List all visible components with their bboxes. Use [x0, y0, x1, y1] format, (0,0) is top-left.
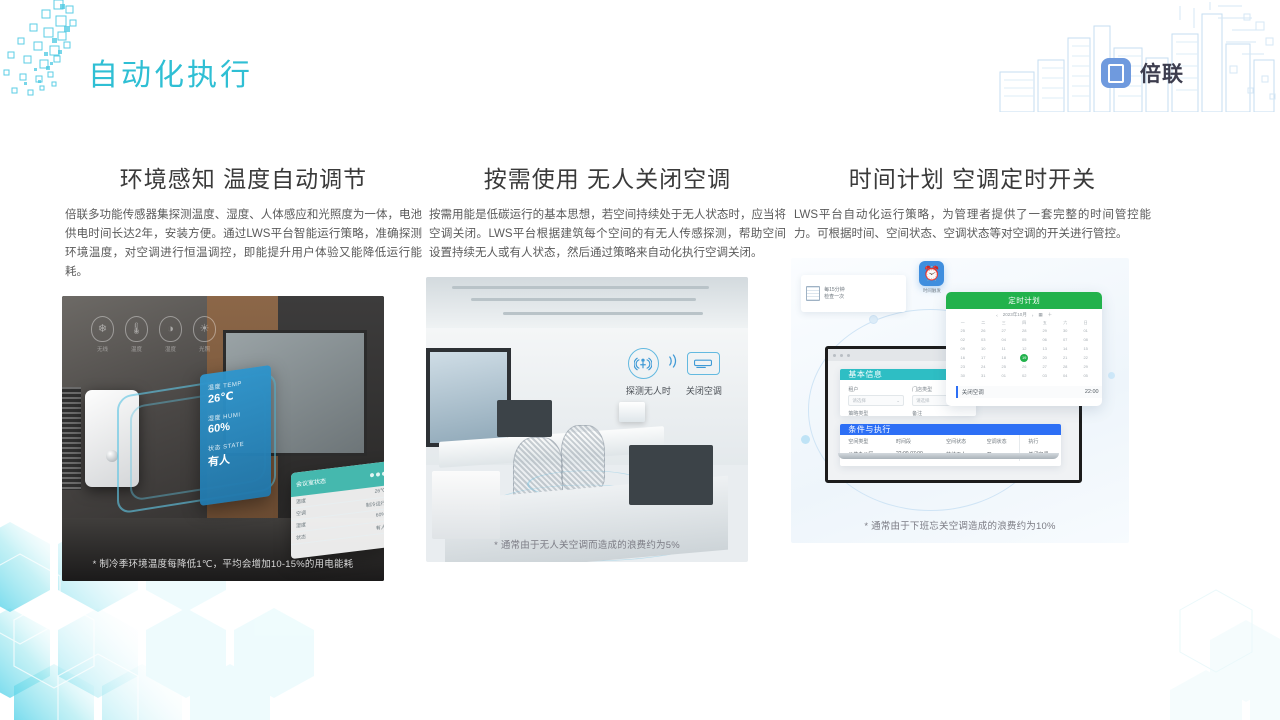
- calendar-day[interactable]: 21: [1055, 354, 1076, 362]
- calendar-day[interactable]: 14: [1055, 345, 1076, 353]
- sensor-room-image: ❄ 无线 🌡 温度 ◑ 湿度 ☀ 光照: [62, 296, 384, 581]
- hexagon-pattern-right-decoration: [1060, 570, 1280, 720]
- calendar-event-item[interactable]: 关闭空调 22:00: [956, 386, 1102, 398]
- column-2-caption: * 通常由于无人关空调而造成的浪费约为5%: [426, 537, 748, 551]
- column-3-description: LWS平台自动化运行策略，为管理者提供了一套完整的时间管控能力。可根据时间、空间…: [791, 206, 1154, 244]
- time-trigger-label: 时间触发: [919, 288, 944, 294]
- event-name: 关闭空调: [962, 388, 984, 396]
- air-conditioner-icon: [687, 352, 720, 375]
- reading-occupancy: 状态 STATE 有人: [208, 436, 263, 470]
- calendar-day[interactable]: 02: [952, 336, 972, 344]
- calendar-day[interactable]: 28: [1055, 363, 1076, 371]
- page-title: 自动化执行: [88, 50, 253, 94]
- brand-logo: 倍联: [1101, 58, 1184, 88]
- calendar-day[interactable]: 10: [973, 345, 994, 353]
- calendar-day[interactable]: 23: [952, 363, 972, 371]
- feature-column-2: 按需使用 无人关闭空调 按需用能是低碳运行的基本思想，若空间持续处于无人状态时，…: [426, 160, 789, 581]
- calendar-day[interactable]: 12: [1014, 345, 1034, 353]
- alarm-clock-icon: ⏰: [919, 261, 944, 286]
- temperature-icon: 🌡 温度: [125, 316, 148, 353]
- column-1-title: 环境感知 温度自动调节: [62, 160, 425, 194]
- calendar-day[interactable]: 27: [1034, 363, 1055, 371]
- calendar-day[interactable]: 29: [1034, 327, 1055, 335]
- app-square-icon: [1101, 58, 1131, 88]
- checklist-icon: [806, 286, 820, 301]
- chevron-down-icon: ⌄: [896, 398, 900, 404]
- calendar-day[interactable]: 28: [1014, 327, 1034, 335]
- brand-name: 倍联: [1140, 58, 1184, 88]
- calendar-weekday: 四: [1014, 319, 1034, 327]
- column-1-caption: * 制冷季环境温度每降低1℃，平均会增加10-15%的用电能耗: [62, 556, 384, 570]
- calendar-day[interactable]: 08: [1075, 336, 1095, 344]
- reading-humidity: 湿度 HUMI 60%: [208, 406, 263, 436]
- calendar-weekday: 二: [973, 319, 994, 327]
- event-time: 22:00: [1085, 389, 1099, 395]
- occupancy-overlay: 探测无人时 关闭空调: [606, 348, 741, 397]
- column-2-title: 按需使用 无人关闭空调: [426, 160, 789, 194]
- next-month-button[interactable]: ›: [1032, 313, 1034, 318]
- calendar-title: 定时计划: [946, 292, 1101, 309]
- calendar-day[interactable]: 16: [952, 354, 972, 362]
- feature-column-1: 环境感知 温度自动调节 倍联多功能传感器集探测温度、湿度、人体感应和光照度为一体…: [62, 160, 425, 581]
- calendar-day[interactable]: 30: [1055, 327, 1076, 335]
- calendar-day[interactable]: 09: [952, 345, 972, 353]
- calendar-day[interactable]: 04: [1055, 372, 1076, 380]
- calendar-day[interactable]: 22: [1075, 354, 1095, 362]
- occupancy-sensor-icon: [628, 348, 659, 379]
- column-3-caption: * 通常由于下班忘关空调造成的浪费约为10%: [791, 518, 1129, 532]
- calendar-day[interactable]: 05: [1014, 336, 1034, 344]
- calendar-day[interactable]: 20: [1034, 354, 1055, 362]
- calendar-weekday: 日: [1075, 319, 1095, 327]
- calendar-weekday: 一: [952, 319, 972, 327]
- calendar-day[interactable]: 31: [973, 372, 994, 380]
- field-policy-type: 策略类型 请选择⌄: [848, 410, 904, 416]
- calendar-day[interactable]: 25: [952, 327, 972, 335]
- field-remark: 备注 请输入: [912, 410, 968, 416]
- calendar-day[interactable]: 02: [1014, 372, 1034, 380]
- calendar-day[interactable]: 17: [973, 354, 994, 362]
- reading-temperature: 温度 TEMP 26℃: [208, 375, 263, 406]
- skyline-circuit-decoration: [980, 0, 1280, 112]
- column-2-description: 按需用能是低碳运行的基本思想，若空间持续处于无人状态时，应当将空调关闭。LWS平…: [426, 206, 789, 263]
- time-trigger-tag: ⏰ 时间触发: [919, 261, 944, 294]
- calendar-day[interactable]: 29: [1075, 363, 1095, 371]
- calendar-view-icon[interactable]: ▦: [1038, 312, 1042, 318]
- calendar-day[interactable]: 01: [993, 372, 1014, 380]
- add-plan-button[interactable]: ＋: [1048, 312, 1053, 318]
- calendar-day[interactable]: 26: [973, 327, 994, 335]
- overlay-right-label: 关闭空调: [686, 384, 722, 397]
- condition-execution-title: 条件与执行: [840, 424, 1061, 435]
- room-status-title: 会议室状态: [296, 476, 326, 489]
- office-room-image: 探测无人时 关闭空调 * 通常由于无人关空调而造成的浪费约为5%: [426, 277, 748, 562]
- table-header-row: 空间类型 时间段 空间状态 空调状态 执行: [840, 435, 1061, 448]
- air-conditioner-device: [619, 402, 645, 422]
- illuminance-icon: ☀ 光照: [193, 316, 216, 353]
- signal-waves-icon: [666, 353, 680, 374]
- overlay-left-label: 探测无人时: [626, 384, 671, 397]
- calendar-day[interactable]: 25: [993, 363, 1014, 371]
- condition-execution-panel: 条件与执行 空间类型 时间段 空间状态 空调状态 执行 公共办公区 22:00-…: [840, 424, 1061, 466]
- calendar-day[interactable]: 18: [993, 354, 1014, 362]
- calendar-day[interactable]: 06: [1034, 336, 1055, 344]
- calendar-day[interactable]: 01: [1075, 327, 1095, 335]
- column-1-description: 倍联多功能传感器集探测温度、湿度、人体感应和光照度为一体，电池供电时间长达2年，…: [62, 206, 425, 282]
- check-interval-label: 每15分钟 检查一次: [824, 287, 845, 301]
- desk-monitor-right: [629, 445, 713, 505]
- prev-month-button[interactable]: ‹: [996, 313, 998, 318]
- room-status-card: 会议室状态 温度26℃ 空调制冷运行 湿度60% 状态有人: [291, 461, 384, 559]
- schedule-calendar-panel: 定时计划 ‹ 2023年10月 › ▦ ＋ 一二三四五六日 2526272829…: [946, 292, 1101, 406]
- window-dots-icon: [369, 471, 384, 477]
- column-3-title: 时间计划 空调定时开关: [791, 160, 1154, 194]
- calendar-day[interactable]: 19: [1020, 354, 1028, 362]
- calendar-day[interactable]: 15: [1075, 345, 1095, 353]
- sensor-capability-icons: ❄ 无线 🌡 温度 ◑ 湿度 ☀ 光照: [91, 316, 216, 353]
- calendar-day[interactable]: 30: [952, 372, 972, 380]
- calendar-weekday-row: 一二三四五六日: [946, 319, 1101, 327]
- calendar-day-grid[interactable]: 2526272829300102030405060708091011121314…: [946, 327, 1101, 380]
- check-interval-tag: 每15分钟 检查一次: [801, 275, 906, 312]
- wireless-icon: ❄ 无线: [91, 316, 114, 353]
- calendar-weekday: 三: [993, 319, 1014, 327]
- calendar-day[interactable]: 03: [973, 336, 994, 344]
- calendar-day[interactable]: 26: [1014, 363, 1034, 371]
- calendar-day[interactable]: 13: [1034, 345, 1055, 353]
- tenant-select[interactable]: 请选择⌄: [848, 395, 904, 406]
- field-tenant: 租户 请选择⌄: [848, 386, 904, 406]
- calendar-day[interactable]: 11: [993, 345, 1014, 353]
- calendar-day[interactable]: 07: [1055, 336, 1076, 344]
- sensor-reading-card: 温度 TEMP 26℃ 湿度 HUMI 60% 状态 STATE 有人: [200, 365, 271, 506]
- calendar-month-label: 2023年10月: [1003, 312, 1027, 318]
- desk-monitor-left: [497, 400, 552, 437]
- calendar-weekday: 六: [1055, 319, 1076, 327]
- calendar-day[interactable]: 24: [973, 363, 994, 371]
- calendar-day[interactable]: 05: [1075, 372, 1095, 380]
- calendar-day[interactable]: 27: [993, 327, 1014, 335]
- calendar-day[interactable]: 04: [993, 336, 1014, 344]
- calendar-day[interactable]: 03: [1034, 372, 1055, 380]
- calendar-weekday: 五: [1034, 319, 1055, 327]
- humidity-icon: ◑ 湿度: [159, 316, 182, 353]
- feature-column-3: 时间计划 空调定时开关 LWS平台自动化运行策略，为管理者提供了一套完整的时间管…: [791, 160, 1154, 581]
- feature-columns: 环境感知 温度自动调节 倍联多功能传感器集探测温度、湿度、人体感应和光照度为一体…: [0, 160, 1280, 581]
- schedule-dashboard-image: 每15分钟 检查一次 ⏰ 时间触发 基本信息 租户 请选择⌄: [791, 258, 1129, 543]
